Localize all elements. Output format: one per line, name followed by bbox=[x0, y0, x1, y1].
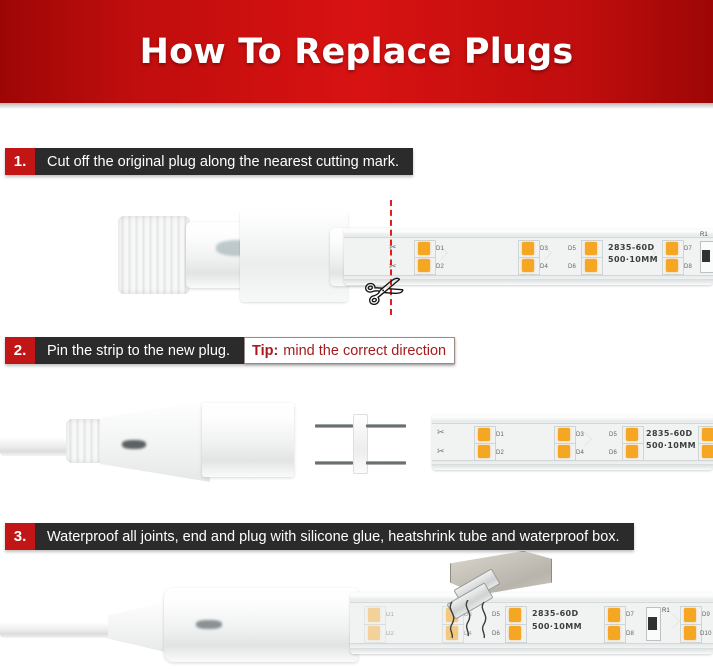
cable-strain-relief bbox=[66, 419, 104, 463]
resistor-R1-band bbox=[648, 617, 657, 630]
step-1-text: Cut off the original plug along the near… bbox=[35, 148, 413, 175]
led-label-D1: D1 bbox=[386, 612, 394, 618]
led-D4 bbox=[522, 259, 534, 272]
led-extra bbox=[702, 445, 713, 458]
cut-mark-icon: ✂ bbox=[437, 427, 444, 437]
led-D1 bbox=[418, 242, 430, 255]
strip-code-line-1: 2835-60D bbox=[608, 243, 655, 253]
led-label-D1: D1 bbox=[436, 246, 444, 252]
led-D7 bbox=[666, 242, 678, 255]
led-D8 bbox=[666, 259, 678, 272]
led-D10 bbox=[684, 626, 696, 640]
connector-pin bbox=[366, 424, 406, 428]
step-3-bar: 3. Waterproof all joints, end and plug w… bbox=[5, 523, 634, 550]
led-strip-step-2: ✂ ✂ D1 D2 D3 D4 D5 D6 2835-60D 500·10MM bbox=[432, 414, 713, 470]
led-label-D7: D7 bbox=[684, 246, 692, 252]
led-label-D9: D9 bbox=[702, 612, 710, 618]
strip-gloss bbox=[432, 416, 713, 420]
led-D8 bbox=[608, 626, 620, 640]
led-label-D10: D10 bbox=[700, 631, 712, 637]
led-D7 bbox=[608, 608, 620, 622]
led-D4 bbox=[558, 445, 570, 458]
led-D1 bbox=[478, 428, 490, 441]
led-D1 bbox=[368, 608, 380, 622]
connector-body bbox=[353, 414, 368, 474]
strip-bottom-shadow bbox=[432, 464, 713, 470]
led-label-D4: D4 bbox=[540, 264, 548, 270]
banner-shadow bbox=[0, 103, 713, 109]
led-label-D3: D3 bbox=[576, 432, 584, 438]
step-2-text: Pin the strip to the new plug. bbox=[35, 337, 244, 364]
tip-label: Tip: bbox=[252, 343, 278, 359]
led-D6 bbox=[509, 626, 521, 640]
cut-mark-icon: ✂ bbox=[437, 446, 444, 456]
led-D2 bbox=[368, 626, 380, 640]
led-label-D1: D1 bbox=[496, 432, 504, 438]
led-label-D3: D3 bbox=[540, 246, 548, 252]
resistor-label-R1: R1 bbox=[662, 608, 670, 614]
connector-pin bbox=[315, 461, 353, 465]
led-label-D4: D4 bbox=[576, 450, 584, 456]
led-D5 bbox=[585, 242, 597, 255]
led-label-D5: D5 bbox=[568, 246, 576, 252]
resistor-R1-band bbox=[702, 250, 710, 262]
led-D3 bbox=[558, 428, 570, 441]
power-cable bbox=[0, 616, 112, 638]
strip-code-line-1: 2835-60D bbox=[532, 609, 579, 619]
strip-code-line-1: 2835-60D bbox=[646, 429, 693, 439]
connector-pin bbox=[315, 424, 353, 428]
step-3-number: 3. bbox=[5, 523, 35, 550]
led-extra bbox=[702, 428, 713, 441]
led-label-D8: D8 bbox=[626, 631, 634, 637]
led-label-D2: D2 bbox=[436, 264, 444, 270]
led-label-D6: D6 bbox=[609, 450, 617, 456]
led-label-D2: D2 bbox=[496, 450, 504, 456]
strip-code-line-2: 500·10MM bbox=[608, 255, 658, 265]
step-2-number: 2. bbox=[5, 337, 35, 364]
plug-internal-contact bbox=[122, 440, 146, 449]
strip-bottom-shadow bbox=[350, 648, 713, 654]
strip-code-line-2: 500·10MM bbox=[646, 441, 696, 451]
led-D5 bbox=[626, 428, 638, 441]
tip-text: mind the correct direction bbox=[283, 343, 446, 359]
strip-gloss bbox=[350, 594, 713, 599]
led-D3 bbox=[522, 242, 534, 255]
glue-flow-lines bbox=[440, 600, 510, 640]
step-1-number: 1. bbox=[5, 148, 35, 175]
led-label-D7: D7 bbox=[626, 612, 634, 618]
new-plug-housing bbox=[202, 403, 294, 477]
power-cable bbox=[0, 430, 72, 456]
strip-gloss bbox=[344, 230, 713, 235]
led-D6 bbox=[585, 259, 597, 272]
strip-code-line-2: 500·10MM bbox=[532, 622, 582, 632]
led-label-D6: D6 bbox=[568, 264, 576, 270]
led-D5 bbox=[509, 608, 521, 622]
led-label-D8: D8 bbox=[684, 264, 692, 270]
waterproof-plug-body bbox=[164, 588, 358, 662]
led-label-D5: D5 bbox=[609, 432, 617, 438]
header-banner: How To Replace Plugs bbox=[0, 0, 713, 103]
led-D2 bbox=[418, 259, 430, 272]
plug-internal-contact bbox=[196, 620, 222, 629]
page-title: How To Replace Plugs bbox=[140, 32, 574, 72]
led-D2 bbox=[478, 445, 490, 458]
plug-threaded-nose bbox=[118, 216, 190, 294]
led-D9 bbox=[684, 608, 696, 622]
step-2-tip: Tip: mind the correct direction bbox=[244, 337, 455, 364]
resistor-label-R1: R1 bbox=[700, 232, 708, 238]
instruction-infographic: How To Replace Plugs 1. Cut off the orig… bbox=[0, 0, 713, 669]
step-3-text: Waterproof all joints, end and plug with… bbox=[35, 523, 634, 550]
step-1-bar: 1. Cut off the original plug along the n… bbox=[5, 148, 413, 175]
led-D6 bbox=[626, 445, 638, 458]
led-label-D2: D2 bbox=[386, 631, 394, 637]
led-strip-step-3: D1 D2 D3 D4 D5 D6 2835-60D 500·10MM bbox=[350, 592, 713, 654]
connector-pin bbox=[366, 461, 406, 465]
plug-taper bbox=[100, 400, 210, 482]
plug-taper bbox=[108, 598, 170, 656]
step-2-bar: 2. Pin the strip to the new plug. Tip: m… bbox=[5, 337, 455, 364]
